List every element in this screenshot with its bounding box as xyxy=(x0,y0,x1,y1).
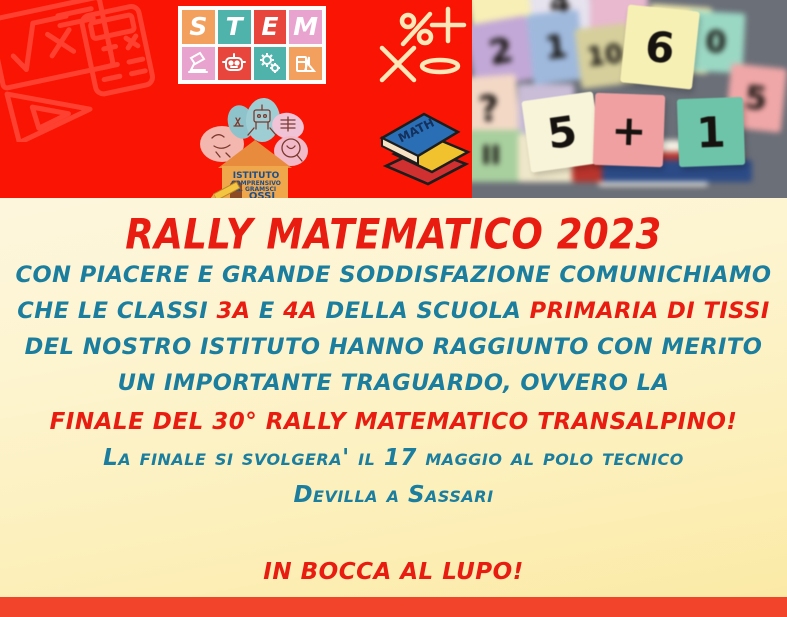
announcement-part-4: DEL NOSTRO ISTITUTO HANNO RAGGIUNTO CON … xyxy=(25,334,763,396)
stem-letter-m: M xyxy=(293,14,318,39)
class-4a: 4A xyxy=(283,298,317,324)
poster-body: RALLY MATEMATICO 2023 CON PIACERE E GRAN… xyxy=(0,198,787,597)
stem-letter-e: E xyxy=(261,14,278,39)
math-books-icon: MATH xyxy=(374,108,474,194)
venue-line-1: La finale si svolgera' il 17 maggio al p… xyxy=(0,439,787,476)
closing-message: IN BOCCA AL LUPO! xyxy=(0,513,787,587)
chemistry-icon xyxy=(289,47,322,81)
stem-letter-t: T xyxy=(226,14,243,39)
announcement-paragraph: CON PIACERE E GRANDE SODDISFAZIONE COMUN… xyxy=(0,252,787,401)
gears-icon xyxy=(254,47,287,81)
photo-foreground-blocks: 6 5 + 1 xyxy=(472,0,787,198)
math-symbols-icon xyxy=(374,4,472,96)
footer-bar xyxy=(0,597,787,617)
school-name: PRIMARIA DI TISSI xyxy=(530,298,770,324)
venue-line-2: Devilla a Sassari xyxy=(0,476,787,513)
class-3a: 3A xyxy=(216,298,250,324)
page-title: RALLY MATEMATICO 2023 xyxy=(0,195,787,255)
school-logo: ISTITUTO COMPRENSIVO A. GRAMSCI OSSI xyxy=(196,96,314,198)
stem-cell-m: M xyxy=(289,10,322,44)
notebook-sqrt-icon xyxy=(0,0,169,142)
poster: S T E M xyxy=(0,0,787,617)
stem-cell-t: T xyxy=(218,10,251,44)
stem-cell-e: E xyxy=(254,10,287,44)
stem-logo: S T E M xyxy=(178,6,326,84)
event-highlight: FINALE DEL 30° RALLY MATEMATICO TRANSALP… xyxy=(0,401,787,439)
announcement-part-2: E xyxy=(251,298,284,324)
stem-letter-s: S xyxy=(189,14,207,39)
number-blocks-photo: 4 2 1 10 0 ? 5 II 6 5 + 1 xyxy=(472,0,787,198)
robot-icon xyxy=(218,47,251,81)
stem-cell-s: S xyxy=(182,10,215,44)
poster-header: S T E M xyxy=(0,0,787,198)
microscope-icon xyxy=(182,47,215,81)
announcement-part-3: DELLA SCUOLA xyxy=(317,298,530,324)
